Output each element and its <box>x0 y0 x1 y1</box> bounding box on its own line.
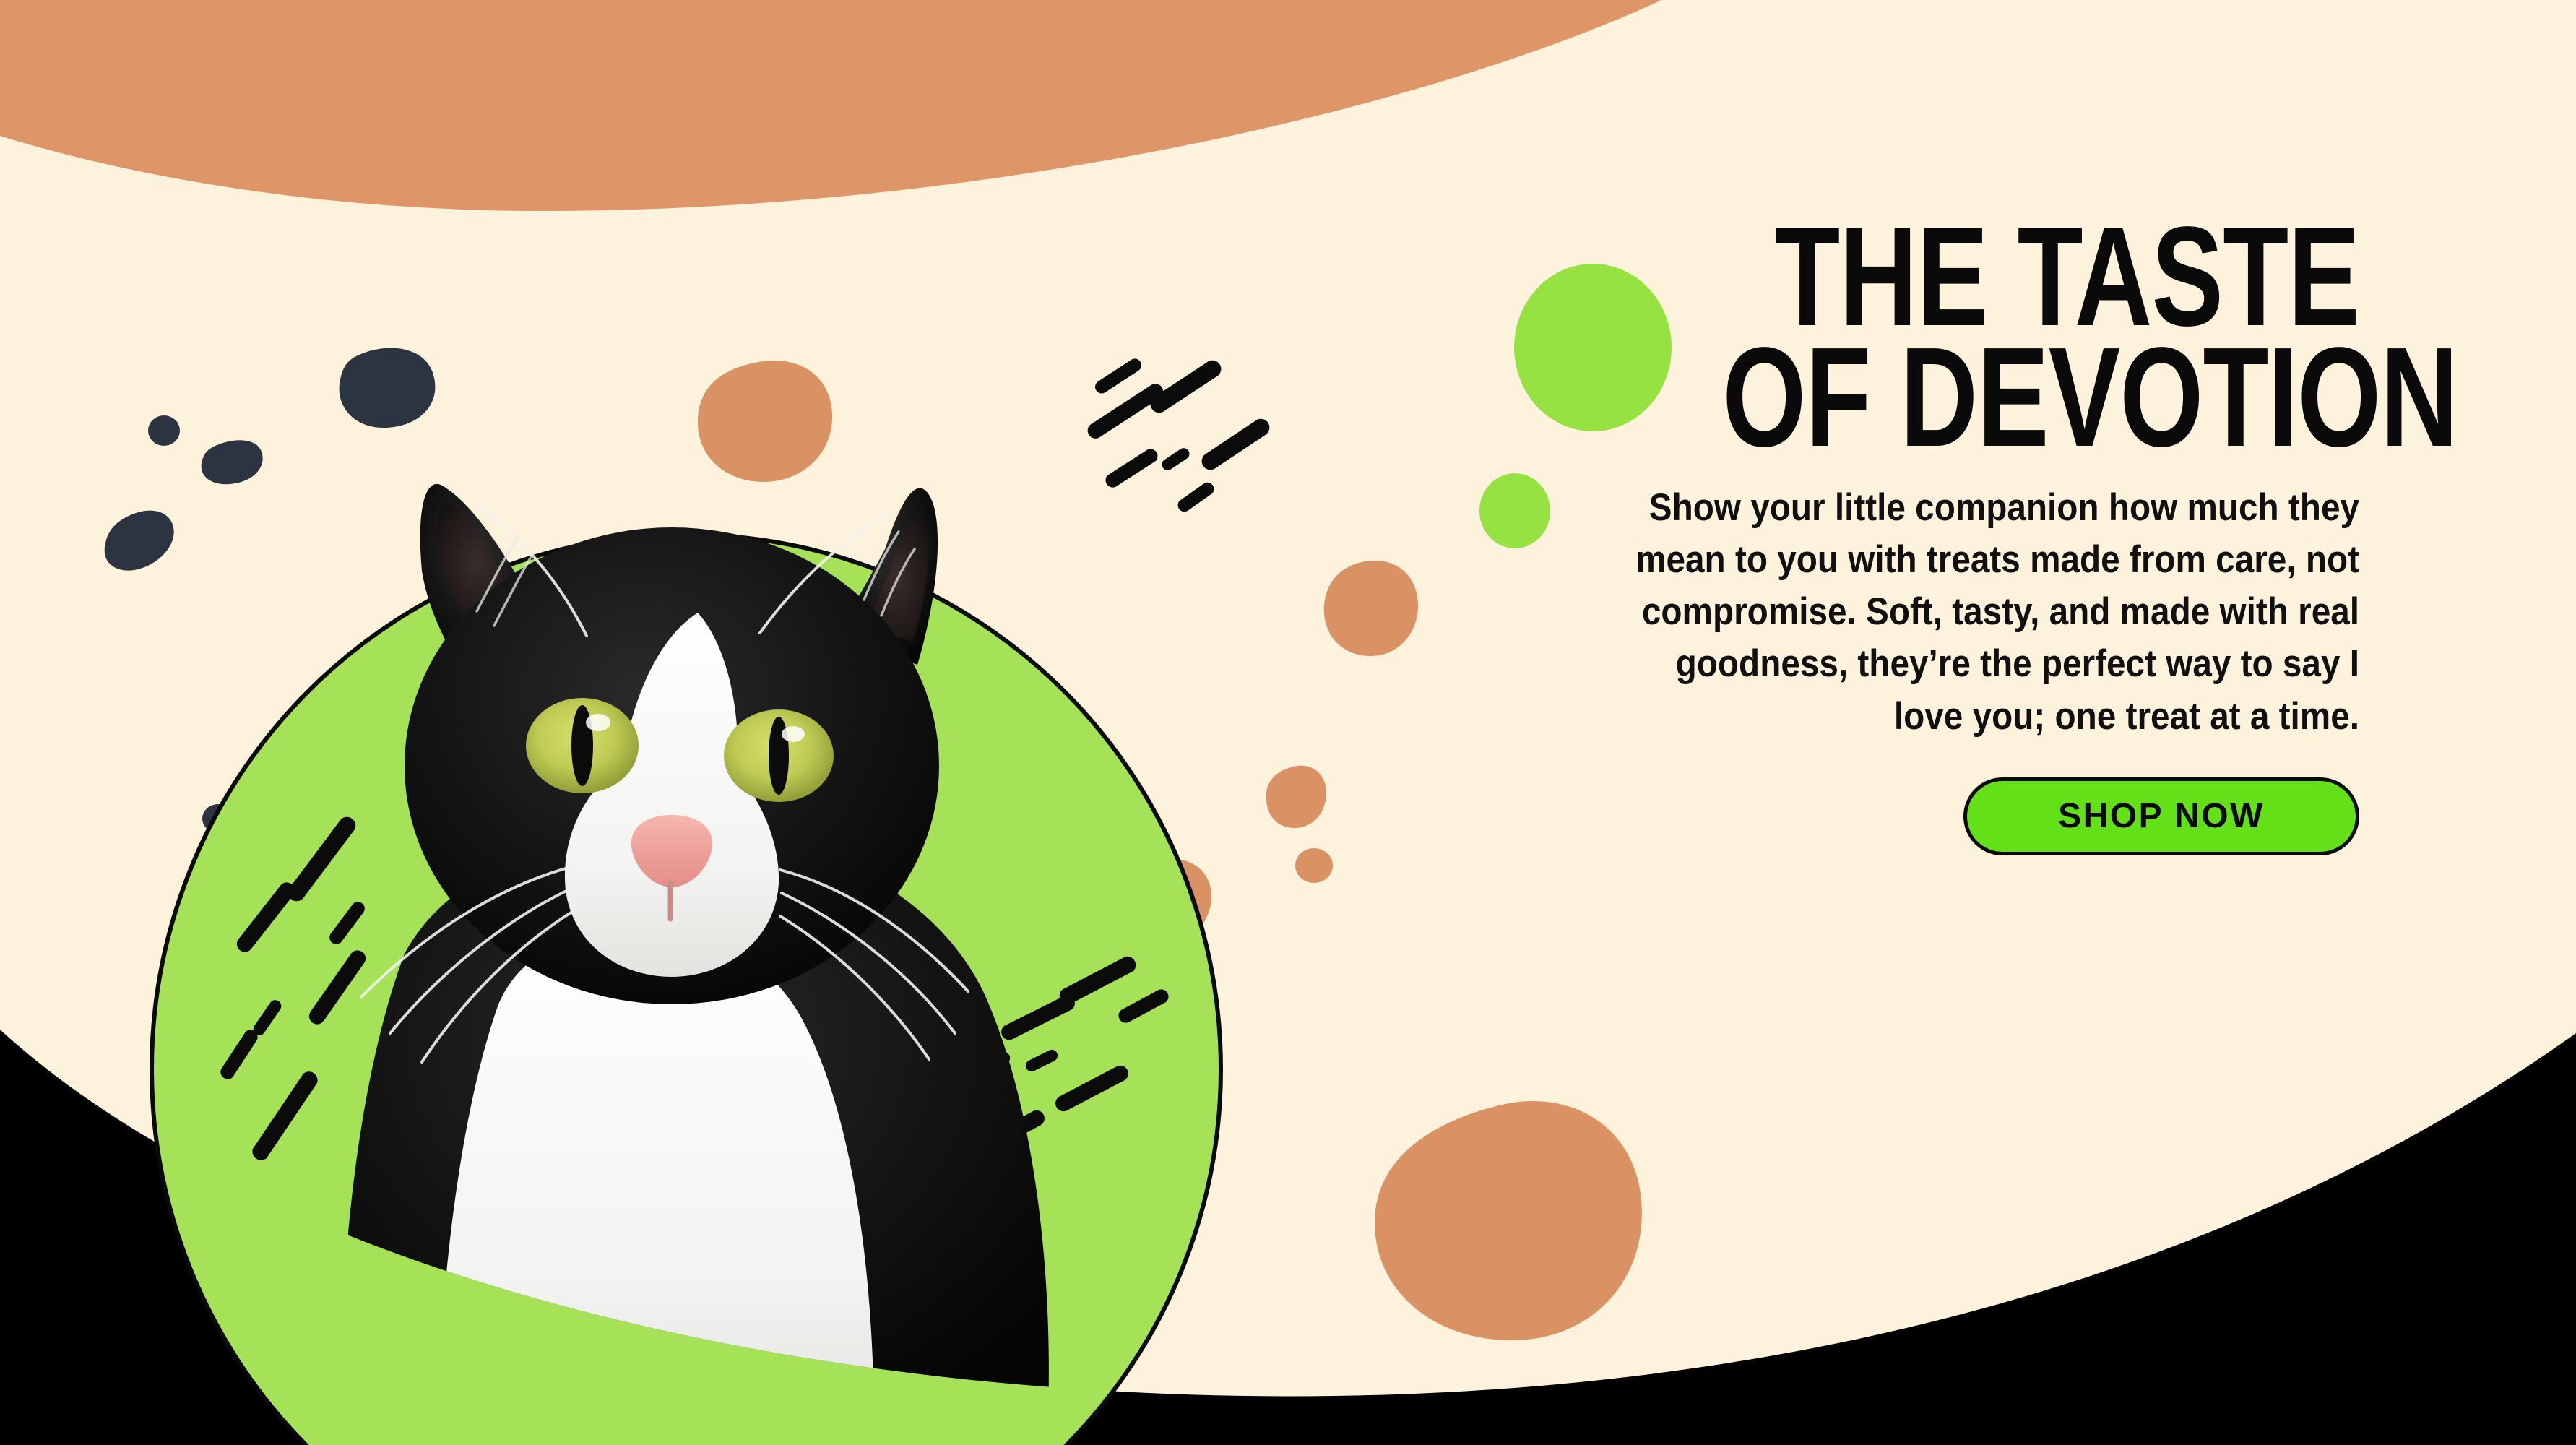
lime-accent-dot-small <box>1479 473 1550 548</box>
copy-block: THE TASTE OF DEVOTION Show your little c… <box>1521 217 2359 855</box>
shop-now-button[interactable]: SHOP NOW <box>1963 777 2359 855</box>
body-paragraph: Show your little companion how much they… <box>1605 482 2359 742</box>
promo-banner: THE TASTE OF DEVOTION Show your little c… <box>0 0 2576 1445</box>
cat-eye-left <box>526 698 639 793</box>
cat-eye-right <box>724 709 834 802</box>
headline-line-2: OF DEVOTION <box>1722 337 2359 458</box>
cta-row: SHOP NOW <box>1521 777 2359 855</box>
lime-accent-dot-large <box>1514 264 1672 431</box>
page-title: THE TASTE OF DEVOTION <box>1722 217 2359 457</box>
